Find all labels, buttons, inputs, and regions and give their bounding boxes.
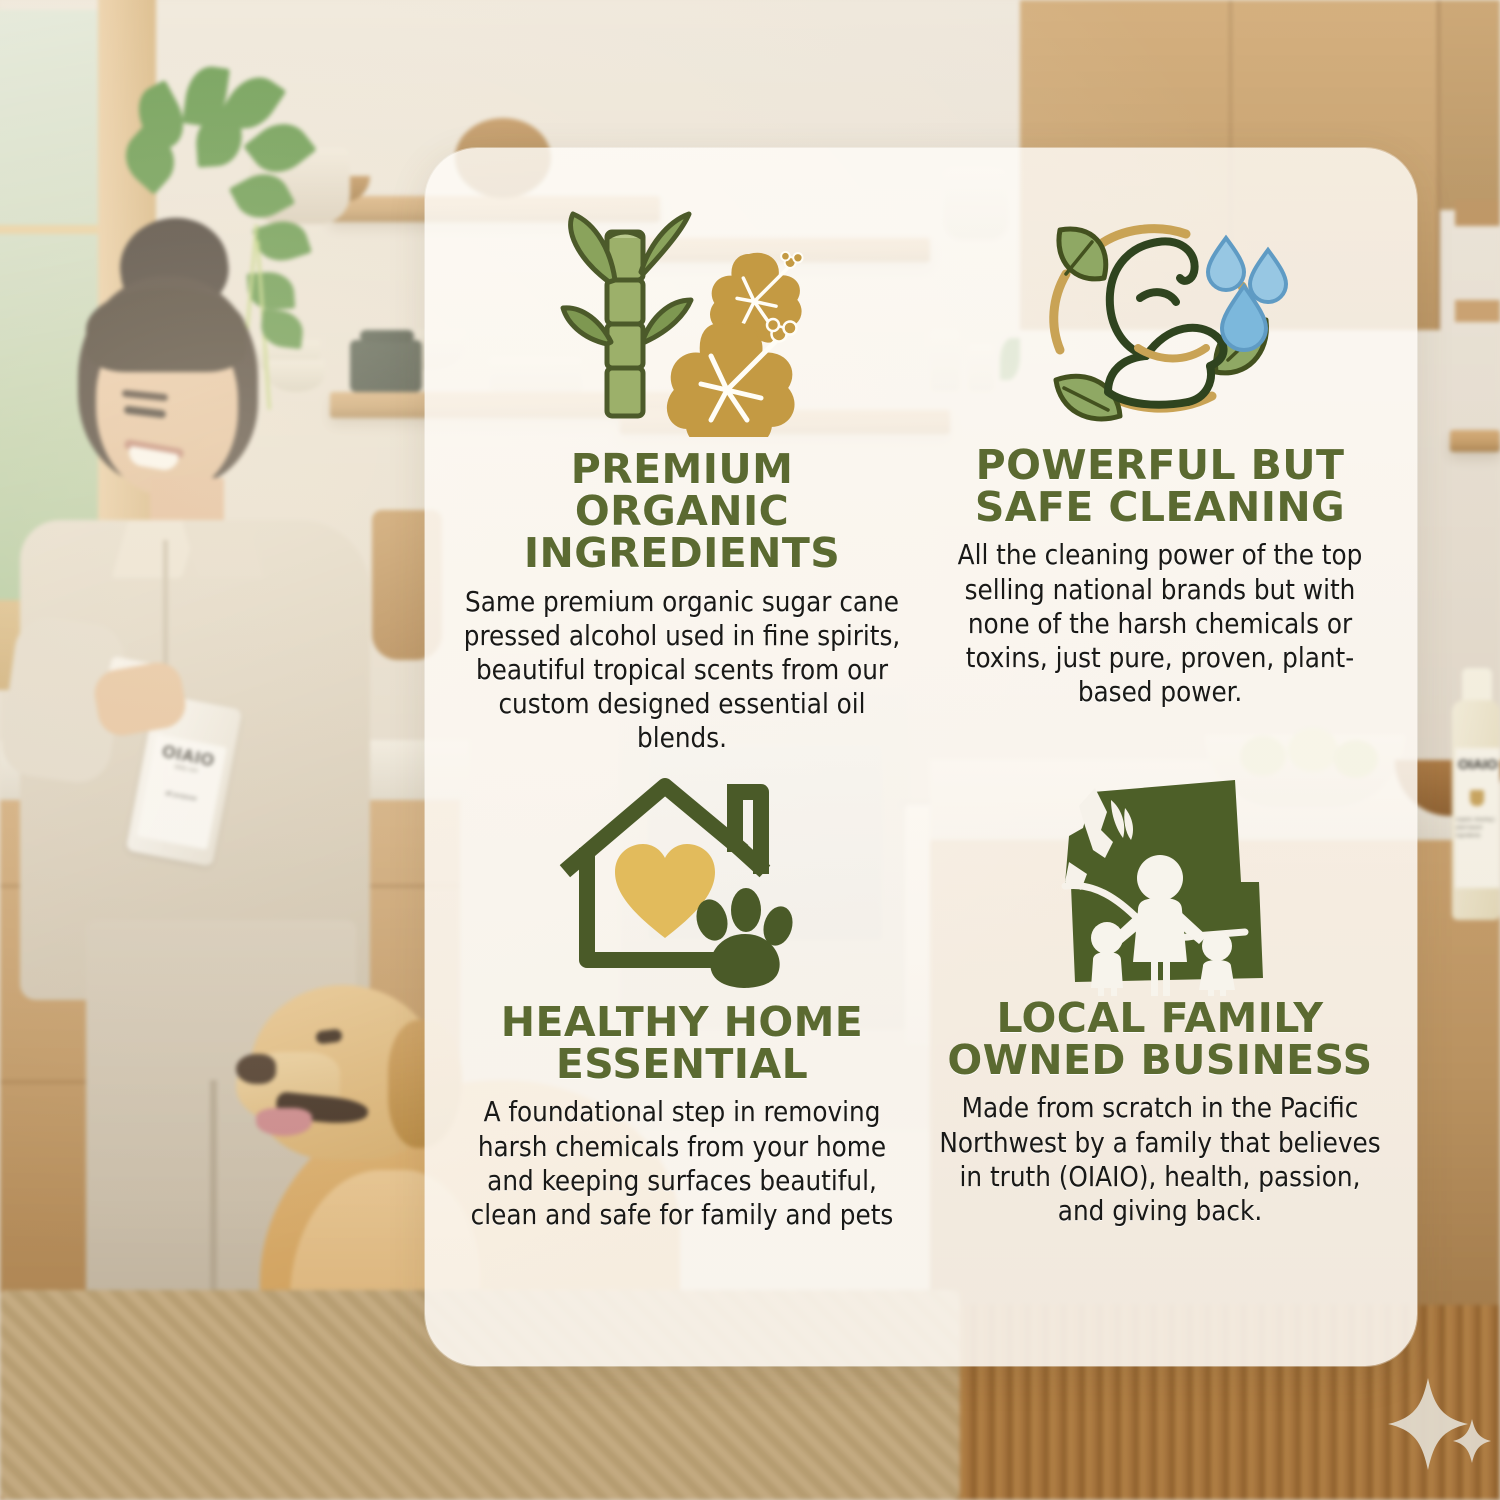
benefit-card-premium-organic-ingredients: PREMIUM ORGANIC INGREDIENTS Same premium… [443, 194, 921, 765]
pacific-northwest-family-icon [1035, 765, 1285, 997]
house-heart-paw-icon [557, 765, 807, 997]
infographic-canvas: OIAIO daily use all purpose OIAIO organi… [0, 0, 1500, 1500]
benefit-body: Same premium organic sugar cane pressed … [459, 585, 905, 755]
benefit-title: POWERFUL BUT SAFE CLEANING [937, 444, 1383, 528]
benefits-grid: PREMIUM ORGANIC INGREDIENTS Same premium… [425, 148, 1417, 1366]
four-point-sparkle-small-icon [1452, 1418, 1492, 1464]
benefit-title: HEALTHY HOME ESSENTIAL [459, 1001, 905, 1085]
benefit-body: All the cleaning power of the top sellin… [937, 538, 1383, 708]
benefit-title: LOCAL FAMILY OWNED BUSINESS [937, 997, 1383, 1081]
benefit-card-powerful-but-safe-cleaning: POWERFUL BUT SAFE CLEANING All the clean… [921, 194, 1399, 765]
benefit-card-local-family-owned-business: LOCAL FAMILY OWNED BUSINESS Made from sc… [921, 765, 1399, 1336]
flexing-arm-leaves-droplets-icon [1030, 194, 1290, 444]
benefit-card-healthy-home-essential: HEALTHY HOME ESSENTIAL A foundational st… [443, 765, 921, 1336]
benefits-panel: PREMIUM ORGANIC INGREDIENTS Same premium… [425, 148, 1417, 1366]
benefit-body: A foundational step in removing harsh ch… [459, 1095, 905, 1231]
benefit-title: PREMIUM ORGANIC INGREDIENTS [459, 448, 905, 575]
paw-print [692, 888, 797, 988]
benefit-body: Made from scratch in the Pacific Northwe… [937, 1091, 1383, 1227]
sugar-cane-hibiscus-icon [557, 194, 807, 444]
